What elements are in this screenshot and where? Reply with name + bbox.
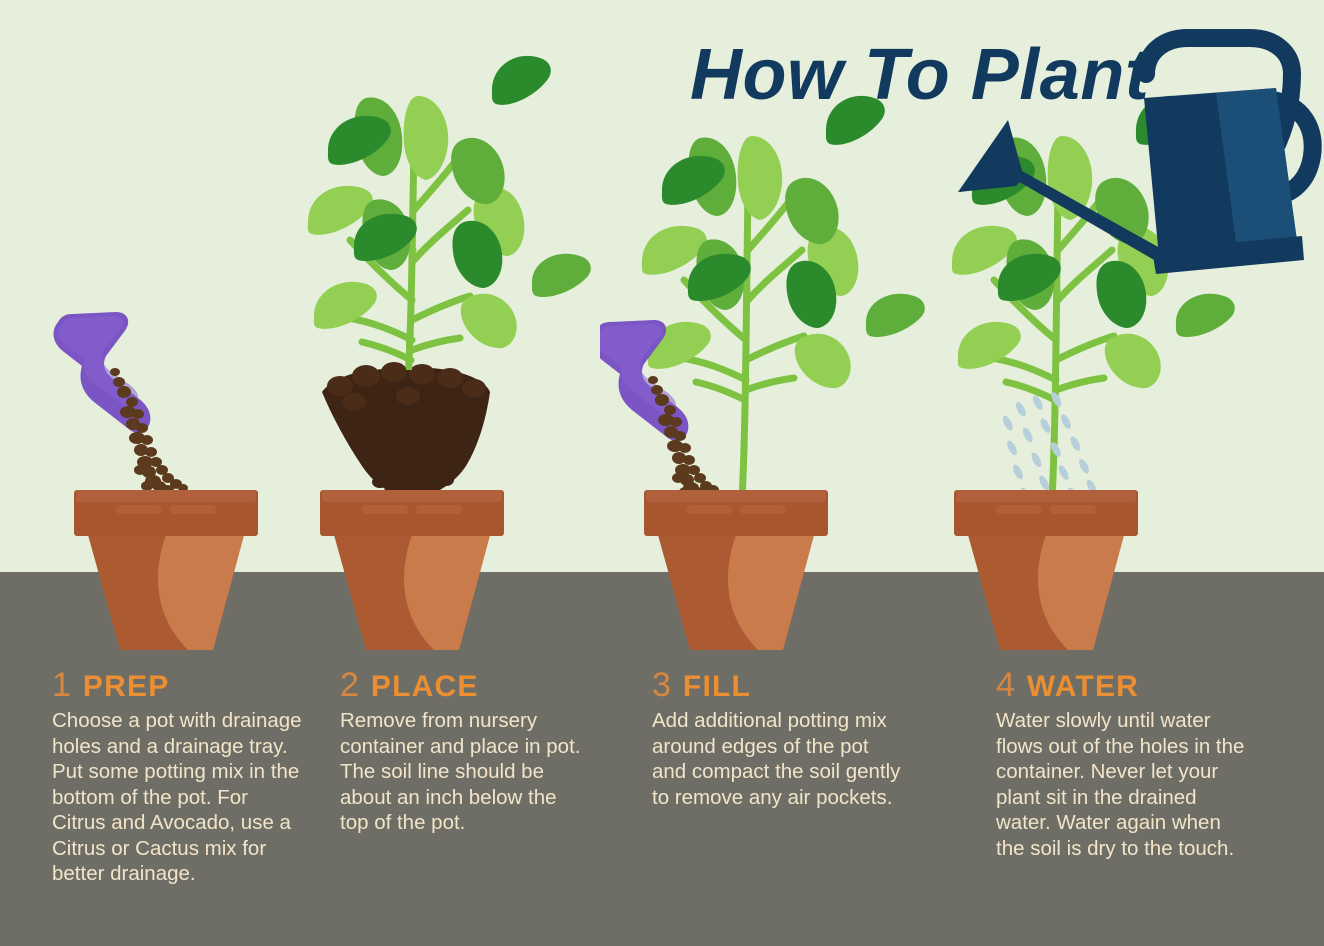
scene-step-4 [920,0,1324,660]
step-3-heading: 3FILL [652,668,952,702]
terracotta-pot-icon [644,490,828,650]
step-4-heading: 4WATER [996,668,1296,702]
terracotta-pot-icon [954,490,1138,650]
step-4-number: 4 [996,666,1015,704]
step-1-number: 1 [52,666,71,704]
infographic-how-to-plant: How To Plant [0,0,1324,946]
step-2-label: PLACE [371,670,479,703]
step-2-heading: 2PLACE [340,668,640,702]
step-3-label: FILL [683,670,751,703]
step-3-illustration [600,0,940,660]
pouring-soil-icon [648,376,719,497]
scene-step-3 [600,0,930,660]
step-3-body: Add additional potting mix around edges … [652,708,902,810]
terracotta-pot-icon [74,490,258,650]
step-3: 3FILL Add additional potting mix around … [652,668,952,810]
step-1-label: PREP [83,670,170,703]
step-4-body: Water slowly until water flows out of th… [996,708,1246,861]
step-3-number: 3 [652,666,671,704]
terracotta-pot-icon [320,490,504,650]
step-4: 4WATER Water slowly until water flows ou… [996,668,1296,861]
step-1-heading: 1PREP [52,668,352,702]
step-2-illustration [300,0,630,660]
step-4-label: WATER [1027,670,1139,703]
scene-step-2 [300,0,630,660]
plant-with-rootball-icon [308,56,591,532]
step-4-illustration [920,0,1324,660]
step-1: 1PREP Choose a pot with drainage holes a… [52,668,352,887]
step-2-body: Remove from nursery container and place … [340,708,590,836]
step-2-number: 2 [340,666,359,704]
step-1-body: Choose a pot with drainage holes and a d… [52,708,302,887]
pouring-soil-icon [110,368,188,495]
step-2: 2PLACE Remove from nursery container and… [340,668,640,836]
